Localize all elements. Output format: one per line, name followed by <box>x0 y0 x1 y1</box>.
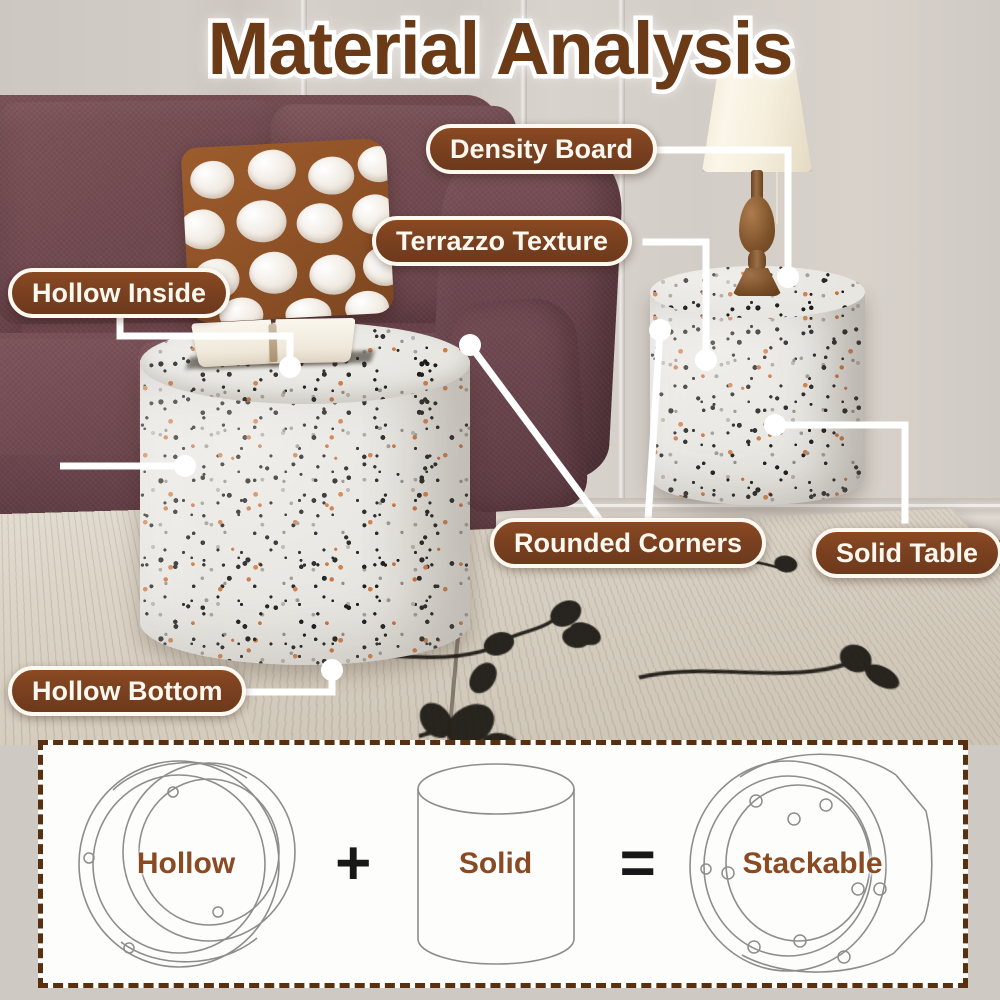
diagram-hollow: Hollow <box>61 745 311 983</box>
diagram-equals: = <box>620 745 656 983</box>
diagram-solid: Solid <box>396 745 596 983</box>
callout-solid-table[interactable]: Solid Table <box>812 528 1000 578</box>
infographic-canvas: Material Analysis Density Board Terrazzo… <box>0 0 1000 1000</box>
lamp-body <box>739 196 775 254</box>
callout-rounded-corners[interactable]: Rounded Corners <box>490 518 766 568</box>
product-lifestyle-photo <box>0 0 1000 745</box>
book-page-right <box>270 318 355 364</box>
equals-operator-icon: = <box>620 833 656 895</box>
lamp-pull-chain <box>776 172 778 224</box>
book-page-left <box>191 319 279 367</box>
sofa-seat-cushion <box>0 339 140 459</box>
lamp-base <box>732 268 782 296</box>
diagram-hollow-label: Hollow <box>137 847 235 881</box>
diagram-stackable: Stackable <box>680 745 945 983</box>
diagram-stackable-label: Stackable <box>742 847 882 881</box>
callout-hollow-inside[interactable]: Hollow Inside <box>8 268 230 318</box>
diagram-solid-label: Solid <box>459 847 532 881</box>
callout-density-board[interactable]: Density Board <box>426 124 657 174</box>
construction-diagram-panel: Hollow + Solid = <box>38 740 968 988</box>
page-title: Material Analysis <box>0 6 1000 91</box>
callout-hollow-bottom[interactable]: Hollow Bottom <box>8 666 246 716</box>
terrazzo-side-table-large <box>140 360 470 665</box>
open-book <box>194 315 356 369</box>
table-lamp <box>690 60 820 300</box>
terrazzo-side-table-small <box>650 290 865 505</box>
book-spine <box>268 324 277 362</box>
plus-operator-icon: + <box>335 833 371 895</box>
callout-terrazzo-texture[interactable]: Terrazzo Texture <box>372 216 632 266</box>
diagram-plus: + <box>335 745 371 983</box>
